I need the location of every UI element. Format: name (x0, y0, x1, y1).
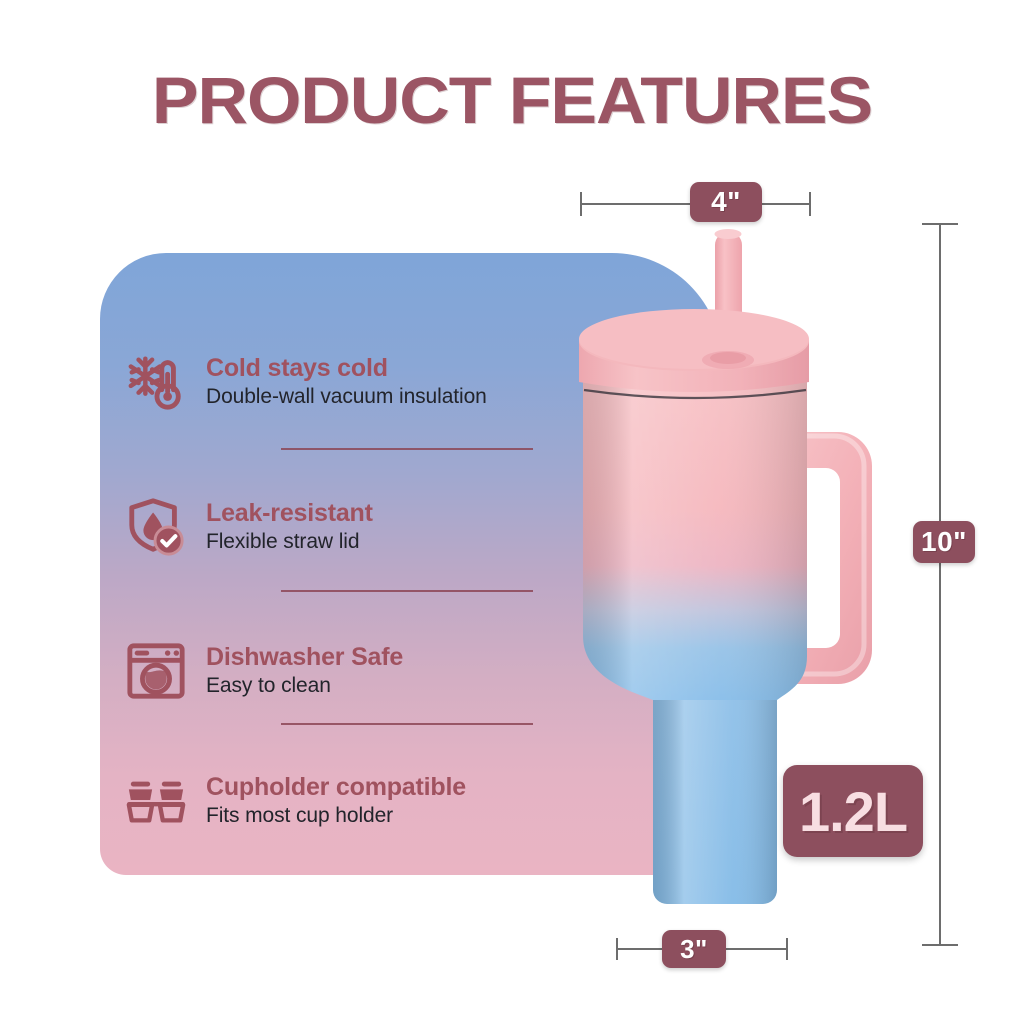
feature-title: Cupholder compatible (206, 773, 466, 802)
feature-divider (281, 723, 533, 725)
snowflake-thermometer-icon (124, 350, 188, 414)
feature-divider (281, 448, 533, 450)
feature-text: Cupholder compatible Fits most cup holde… (206, 773, 466, 830)
feature-subtitle: Flexible straw lid (206, 529, 373, 555)
feature-item-dishwasher-safe: Dishwasher Safe Easy to clean (124, 628, 644, 714)
feature-subtitle: Fits most cup holder (206, 803, 466, 829)
infographic-canvas: PRODUCT FEATURES (0, 0, 1024, 1024)
feature-title: Leak-resistant (206, 499, 373, 528)
cupholder-cups-icon (124, 769, 188, 833)
dimension-badge-width: 4" (690, 182, 762, 222)
washing-machine-icon (124, 639, 188, 703)
shield-droplet-check-icon (124, 495, 188, 559)
feature-divider (281, 590, 533, 592)
feature-subtitle: Double-wall vacuum insulation (206, 384, 487, 410)
feature-text: Leak-resistant Flexible straw lid (206, 499, 373, 556)
page-title: PRODUCT FEATURES (0, 62, 1024, 138)
feature-item-cupholder-compatible: Cupholder compatible Fits most cup holde… (124, 758, 644, 844)
handle (760, 432, 872, 684)
feature-title: Dishwasher Safe (206, 643, 403, 672)
dimension-badge-height: 10" (913, 521, 975, 563)
feature-text: Cold stays cold Double-wall vacuum insul… (206, 354, 487, 411)
feature-title: Cold stays cold (206, 354, 487, 383)
feature-text: Dishwasher Safe Easy to clean (206, 643, 403, 700)
capacity-badge: 1.2L (783, 765, 923, 857)
feature-card: Cold stays cold Double-wall vacuum insul… (100, 253, 722, 875)
feature-subtitle: Easy to clean (206, 673, 403, 699)
dimension-badge-depth: 3" (662, 930, 726, 968)
feature-item-leak-resistant: Leak-resistant Flexible straw lid (124, 484, 644, 570)
feature-item-cold-stays-cold: Cold stays cold Double-wall vacuum insul… (124, 339, 644, 425)
